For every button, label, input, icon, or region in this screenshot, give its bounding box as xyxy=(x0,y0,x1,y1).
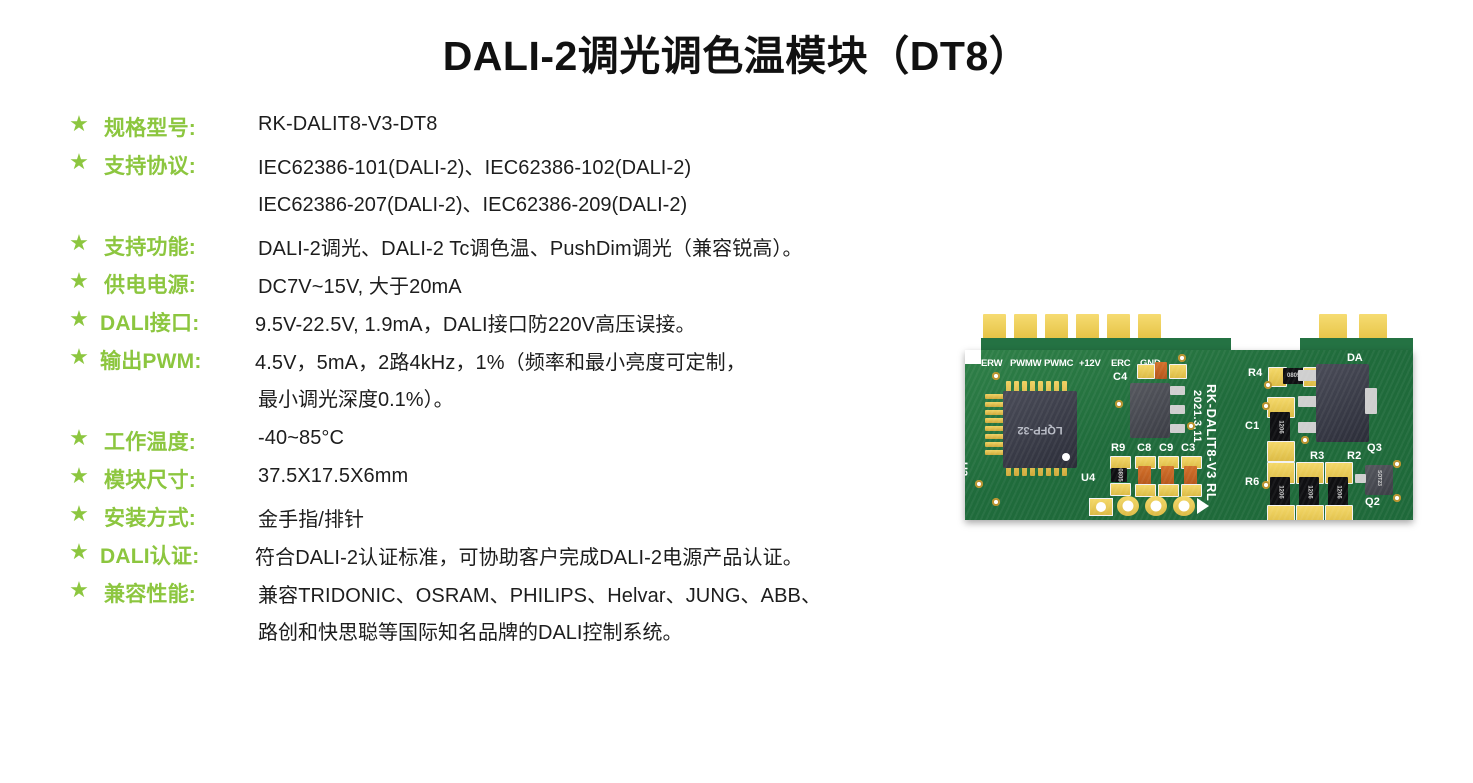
via-q3-bottom xyxy=(1301,436,1309,444)
via-near-regulator-a xyxy=(1115,400,1123,408)
pcb-board-substrate: ERW PWMW PWMC +12V ERC GND DA RK-DALIT8-… xyxy=(965,350,1413,520)
via-r6-left xyxy=(1262,481,1270,489)
spec-value: 金手指/排针 xyxy=(258,503,364,532)
pad-r2-bottom xyxy=(1325,505,1353,520)
spec-row-dali-certification: ★ DALI认证: 符合DALI-2认证标准，可协助客户完成DALI-2电源产品… xyxy=(68,540,1018,564)
silkscreen-date-code: 2021.3.11 xyxy=(1191,390,1203,443)
designator-q3: Q3 xyxy=(1367,442,1382,454)
via-q2-top xyxy=(1393,460,1401,468)
page-title: DALI-2调光调色温模块（DT8） xyxy=(0,22,1473,82)
pad-r9-bottom xyxy=(1110,483,1131,496)
star-bullet-icon: ★ xyxy=(68,270,90,292)
designator-u4: U4 xyxy=(1081,472,1095,484)
designator-r2: R2 xyxy=(1347,450,1361,462)
spec-label: DALI接口: xyxy=(100,307,199,337)
spec-label: 支持功能: xyxy=(104,231,196,261)
q2-lead-left xyxy=(1355,474,1366,483)
pin-label-erw: ERW xyxy=(981,358,1002,369)
star-bullet-icon: ★ xyxy=(68,232,90,254)
spec-row-operating-temperature: ★ 工作温度: -40~85°C xyxy=(68,426,1018,450)
spec-label: DALI认证: xyxy=(100,540,199,570)
pin-label-da: DA xyxy=(1347,352,1363,364)
star-bullet-icon: ★ xyxy=(68,113,90,135)
resistor-r2-code: 1206 xyxy=(1336,485,1342,498)
via-c1-left xyxy=(1262,402,1270,410)
resistor-r9: 0805 xyxy=(1111,468,1127,482)
star-bullet-icon: ★ xyxy=(68,465,90,487)
spec-label: 兼容性能: xyxy=(104,578,196,608)
resistor-r6-code: 1206 xyxy=(1278,485,1284,498)
spec-value: 37.5X17.5X6mm xyxy=(258,465,408,488)
via-near-regulator-b xyxy=(1187,422,1195,430)
spec-value: RK-DALIT8-V3-DT8 xyxy=(258,113,437,136)
pin-label-12v: +12V xyxy=(1079,358,1101,369)
spec-row-power-supply: ★ 供电电源: DC7V~15V, 大于20mA xyxy=(68,269,1018,293)
star-bullet-icon: ★ xyxy=(68,346,90,368)
pad-c9-bottom xyxy=(1158,484,1179,497)
designator-c1: C1 xyxy=(1245,420,1259,432)
q3-lead-right xyxy=(1365,388,1377,414)
main-ic-lqfp32: LQFP-32 xyxy=(1003,391,1077,468)
q3-lead-2 xyxy=(1298,396,1317,407)
mounting-pad-2 xyxy=(1145,496,1167,516)
regulator-sot223 xyxy=(1130,383,1170,438)
pad-c8-bottom xyxy=(1135,484,1156,497)
designator-r9: R9 xyxy=(1111,442,1125,454)
spec-row-functions: ★ 支持功能: DALI-2调光、DALI-2 Tc调色温、PushDim调光（… xyxy=(68,231,1018,255)
specification-list: ★ 规格型号: RK-DALIT8-V3-DT8 ★ 支持协议: IEC6238… xyxy=(68,112,1018,659)
spec-continuation: IEC62386-207(DALI-2)、IEC62386-209(DALI-2… xyxy=(258,188,1018,217)
star-bullet-icon: ★ xyxy=(68,427,90,449)
spec-row-protocols: ★ 支持协议: IEC62386-101(DALI-2)、IEC62386-10… xyxy=(68,150,1018,174)
designator-r3: R3 xyxy=(1310,450,1324,462)
designator-q2: Q2 xyxy=(1365,496,1380,508)
designator-c3: C3 xyxy=(1181,442,1195,454)
pad-c4-a xyxy=(1137,364,1155,379)
board-corner-notch xyxy=(965,350,981,364)
pad-r3-bottom xyxy=(1296,505,1324,520)
spec-label: 输出PWM: xyxy=(100,345,202,375)
spec-continuation: 最小调光深度0.1%）。 xyxy=(258,383,1018,412)
spec-value: 9.5V-22.5V, 1.9mA，DALI接口防220V高压误接。 xyxy=(255,308,696,337)
via-r4-left xyxy=(1264,381,1272,389)
via-u3-left xyxy=(975,480,983,488)
mounting-pad-3 xyxy=(1173,496,1195,516)
spec-label: 模块尺寸: xyxy=(104,464,196,494)
pad-r6-bottom xyxy=(1267,505,1295,520)
regulator-lead-2 xyxy=(1170,405,1185,414)
star-bullet-icon: ★ xyxy=(68,541,90,563)
star-bullet-icon: ★ xyxy=(68,503,90,525)
main-ic-marking: LQFP-32 xyxy=(1017,424,1062,436)
star-bullet-icon: ★ xyxy=(68,579,90,601)
via-left-top xyxy=(992,372,1000,380)
spec-label: 供电电源: xyxy=(104,269,196,299)
spec-value: -40~85°C xyxy=(258,427,344,450)
spec-row-mounting: ★ 安装方式: 金手指/排针 xyxy=(68,502,1018,526)
via-q2-bottom xyxy=(1393,494,1401,502)
spec-row-pwm-output: ★ 输出PWM: 4.5V，5mA，2路4kHz，1%（频率和最小亮度可定制， xyxy=(68,345,1018,369)
designator-r4: R4 xyxy=(1248,367,1262,379)
capacitor-c1-code: 1206 xyxy=(1278,420,1284,433)
ic-pin1-dot-icon xyxy=(1062,453,1070,461)
mounting-pad-square xyxy=(1089,498,1113,516)
transistor-q2-code: SOT23 xyxy=(1376,470,1382,486)
resistor-r3-code: 1206 xyxy=(1307,485,1313,498)
q3-lead-3 xyxy=(1298,422,1317,433)
silkscreen-part-number: RK-DALIT8-V3 RL xyxy=(1204,384,1219,501)
spec-label: 安装方式: xyxy=(104,502,196,532)
star-bullet-icon: ★ xyxy=(68,151,90,173)
regulator-lead-1 xyxy=(1170,386,1185,395)
star-bullet-icon: ★ xyxy=(68,308,90,330)
spec-value: IEC62386-101(DALI-2)、IEC62386-102(DALI-2… xyxy=(258,151,691,180)
mounting-pad-1 xyxy=(1117,496,1139,516)
spec-row-module-size: ★ 模块尺寸: 37.5X17.5X6mm xyxy=(68,464,1018,488)
spec-value: DC7V~15V, 大于20mA xyxy=(258,270,462,299)
transistor-q2: SOT23 xyxy=(1365,465,1393,495)
pin-label-pwmc: PWMC xyxy=(1044,358,1073,369)
via-top-right-gnd xyxy=(1178,354,1186,362)
trace-c4 xyxy=(1155,362,1167,379)
pcb-product-photo: ERW PWMW PWMC +12V ERC GND DA RK-DALIT8-… xyxy=(955,308,1445,540)
cap-c9-body xyxy=(1161,466,1174,486)
pin-label-pwmw: PWMW xyxy=(1010,358,1041,369)
pad-c1-bottom xyxy=(1267,441,1295,462)
spec-label: 规格型号: xyxy=(104,112,196,142)
component-q3 xyxy=(1316,364,1369,442)
regulator-lead-3 xyxy=(1170,424,1185,433)
designator-r6: R6 xyxy=(1245,476,1259,488)
spec-continuation: 路创和快思聪等国际知名品牌的DALI控制系统。 xyxy=(258,616,1018,645)
designator-c9: C9 xyxy=(1159,442,1173,454)
cap-c8-body xyxy=(1138,466,1151,486)
resistor-r9-code: 0805 xyxy=(1117,468,1123,481)
cap-c3-body xyxy=(1184,466,1197,486)
spec-value: 兼容TRIDONIC、OSRAM、PHILIPS、Helvar、JUNG、ABB… xyxy=(258,579,821,608)
spec-label: 支持协议: xyxy=(104,150,196,180)
orientation-triangle-icon xyxy=(1197,498,1209,514)
spec-row-dali-interface: ★ DALI接口: 9.5V-22.5V, 1.9mA，DALI接口防220V高… xyxy=(68,307,1018,331)
pad-c4-b xyxy=(1169,364,1187,379)
spec-value: 符合DALI-2认证标准，可协助客户完成DALI-2电源产品认证。 xyxy=(255,541,803,570)
spec-row-compatibility: ★ 兼容性能: 兼容TRIDONIC、OSRAM、PHILIPS、Helvar、… xyxy=(68,578,1018,602)
spec-label: 工作温度: xyxy=(104,426,196,456)
designator-c8: C8 xyxy=(1137,442,1151,454)
pin-label-erc: ERC xyxy=(1111,358,1130,369)
designator-c4: C4 xyxy=(1113,371,1127,383)
via-bottom-left xyxy=(992,498,1000,506)
q3-lead-1 xyxy=(1298,370,1317,381)
spec-value: 4.5V，5mA，2路4kHz，1%（频率和最小亮度可定制， xyxy=(255,346,746,375)
designator-u3: U3 xyxy=(965,462,969,476)
spec-row-model: ★ 规格型号: RK-DALIT8-V3-DT8 xyxy=(68,112,1018,136)
spec-value: DALI-2调光、DALI-2 Tc调色温、PushDim调光（兼容锐高）。 xyxy=(258,232,803,261)
